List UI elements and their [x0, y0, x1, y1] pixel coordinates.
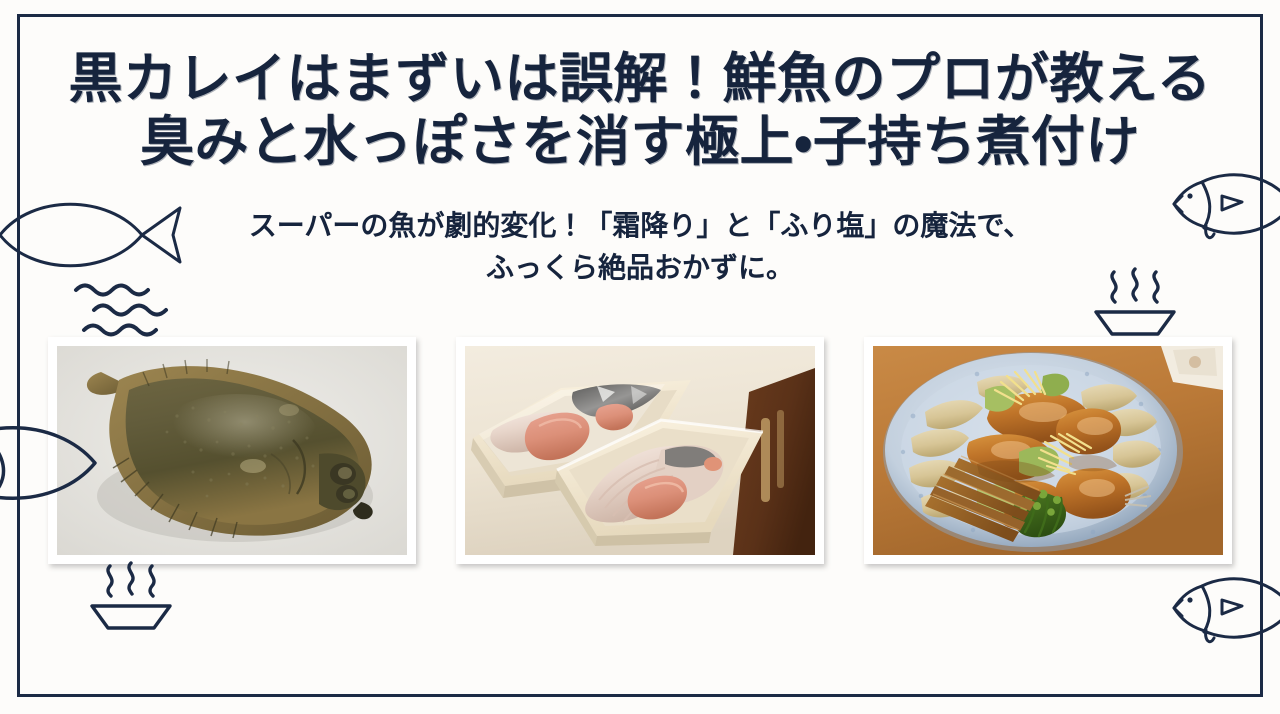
photo-card-raw-trays [456, 337, 824, 564]
photo-raw-trays [465, 346, 815, 555]
steaming-bowl-icon [88, 562, 174, 634]
photo-strip [48, 337, 1232, 564]
title-line-1: 黒カレイはまずいは誤解！鮮魚のプロが教える [0, 48, 1280, 111]
subtitle-line-2: ふっくら絶品おかずに。 [0, 247, 1280, 289]
photo-whole-fish [57, 346, 407, 555]
photo-card-whole-fish [48, 337, 416, 564]
fish-outline-icon [1168, 552, 1280, 662]
photo-card-simmered-dish [864, 337, 1232, 564]
title-line-2: 臭みと水っぽさを消す極上・子持ち煮付け [0, 111, 1280, 174]
photo-simmered-dish [873, 346, 1223, 555]
subtitle-line-1: スーパーの魚が劇的変化！「霜降り」と「ふり塩」の魔法で、 [0, 205, 1280, 247]
page-title: 黒カレイはまずいは誤解！鮮魚のプロが教える 臭みと水っぽさを消す極上・子持ち煮付… [0, 48, 1280, 174]
thumbnail-canvas: 黒カレイはまずいは誤解！鮮魚のプロが教える 臭みと水っぽさを消す極上・子持ち煮付… [0, 0, 1280, 714]
page-subtitle: スーパーの魚が劇的変化！「霜降り」と「ふり塩」の魔法で、 ふっくら絶品おかずに。 [0, 205, 1280, 289]
